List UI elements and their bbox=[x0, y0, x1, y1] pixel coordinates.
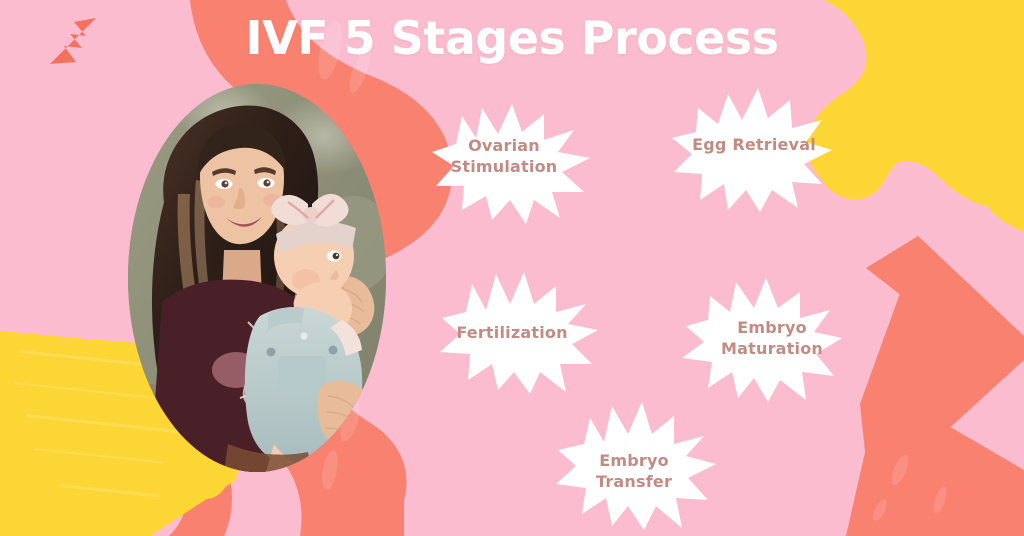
hero-photo-oval bbox=[128, 84, 386, 472]
stage-badge-embryo-transfer[interactable]: Embryo Transfer bbox=[556, 400, 716, 530]
page-title: IVF 5 Stages Process bbox=[0, 8, 1024, 68]
stage-badge-fertilization[interactable]: Fertilization bbox=[440, 270, 600, 394]
stage-badge-embryo-maturation[interactable]: Embryo Maturation bbox=[682, 278, 842, 402]
stage-badge-label: Egg Retrieval bbox=[692, 134, 816, 155]
coral-chevron-right-fill bbox=[860, 238, 1024, 536]
stage-badge-ovarian-stimulation[interactable]: Ovarian Stimulation bbox=[432, 100, 592, 224]
stage-badge-egg-retrieval[interactable]: Egg Retrieval bbox=[672, 88, 832, 212]
poster-canvas: IVF 5 Stages Process Ovarian Stimulation… bbox=[0, 0, 1024, 536]
coral-triangle-bottom-right-shape bbox=[846, 386, 1024, 536]
stage-badge-label: Embryo Transfer bbox=[596, 450, 672, 492]
stage-badge-label: Fertilization bbox=[456, 322, 567, 343]
stage-badge-label: Embryo Maturation bbox=[721, 317, 823, 359]
stage-badge-label: Ovarian Stimulation bbox=[451, 135, 558, 177]
triangle-texture bbox=[870, 453, 949, 523]
mother-and-baby-photo bbox=[128, 84, 386, 472]
coral-chevron-right-shape bbox=[864, 236, 1024, 536]
